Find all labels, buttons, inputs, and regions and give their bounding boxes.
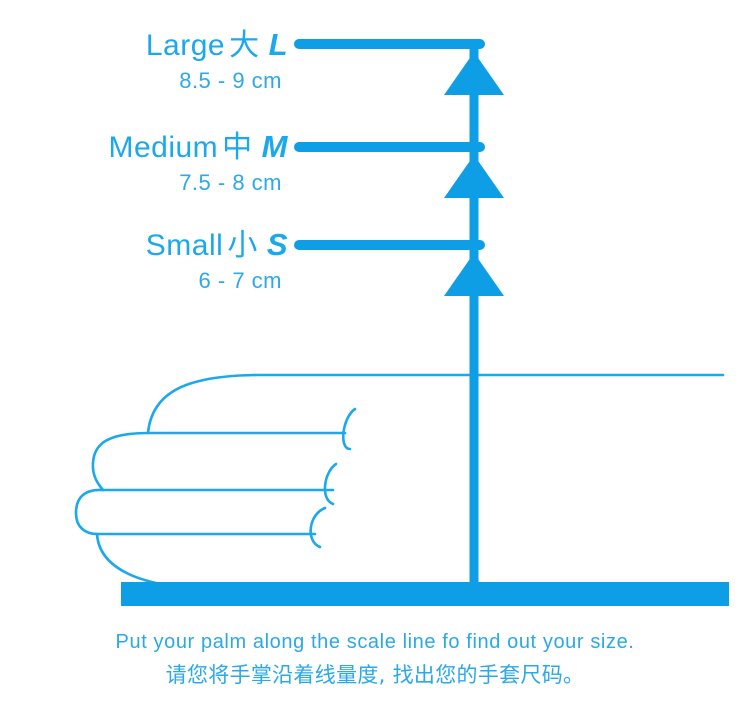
size-cjk-medium: 中 (218, 130, 253, 165)
palm-lower-edge (97, 534, 340, 589)
hand-outline (76, 375, 723, 589)
size-cjk-small: 小 (223, 228, 258, 263)
size-label-large: Large大L 8.5 - 9 cm (146, 29, 288, 92)
size-code-large: L (260, 27, 288, 62)
size-label-medium-title: Medium中M (108, 131, 288, 163)
size-label-small-title: Small小S (146, 229, 288, 261)
size-code-small: S (258, 227, 288, 262)
size-cjk-large: 大 (225, 28, 260, 63)
finger-base-curve-2 (93, 433, 148, 490)
size-label-large-title: Large大L (146, 29, 288, 61)
arrowhead-small (444, 253, 504, 296)
glove-size-chart: Large大L 8.5 - 9 cm Medium中M 7.5 - 8 cm S… (0, 0, 750, 714)
index-finger-curve (148, 375, 255, 433)
size-label-medium: Medium中M 7.5 - 8 cm (108, 131, 288, 194)
palm-baseline-bar (121, 582, 729, 606)
size-label-small: Small小S 6 - 7 cm (146, 229, 288, 292)
finger-tip-arc-2 (325, 464, 336, 504)
size-code-medium: M (253, 129, 288, 164)
arrowhead-medium (444, 155, 504, 198)
arrowhead-large (444, 52, 504, 95)
size-range-medium: 7.5 - 8 cm (108, 172, 288, 194)
size-range-small: 6 - 7 cm (146, 270, 288, 292)
finger-tip-arc-3 (311, 508, 325, 547)
caption-chinese: 请您将手掌沿着线量度, 找出您的手套尺码。 (0, 659, 750, 689)
size-word-large: Large (146, 29, 225, 62)
caption-english: Put your palm along the scale line fo fi… (0, 631, 750, 654)
size-diagram (0, 0, 750, 714)
size-word-medium: Medium (108, 131, 218, 164)
finger-base-curve-3 (76, 490, 103, 534)
size-range-large: 8.5 - 9 cm (146, 70, 288, 92)
size-word-small: Small (146, 229, 224, 262)
finger-tip-arc-1 (343, 409, 355, 449)
